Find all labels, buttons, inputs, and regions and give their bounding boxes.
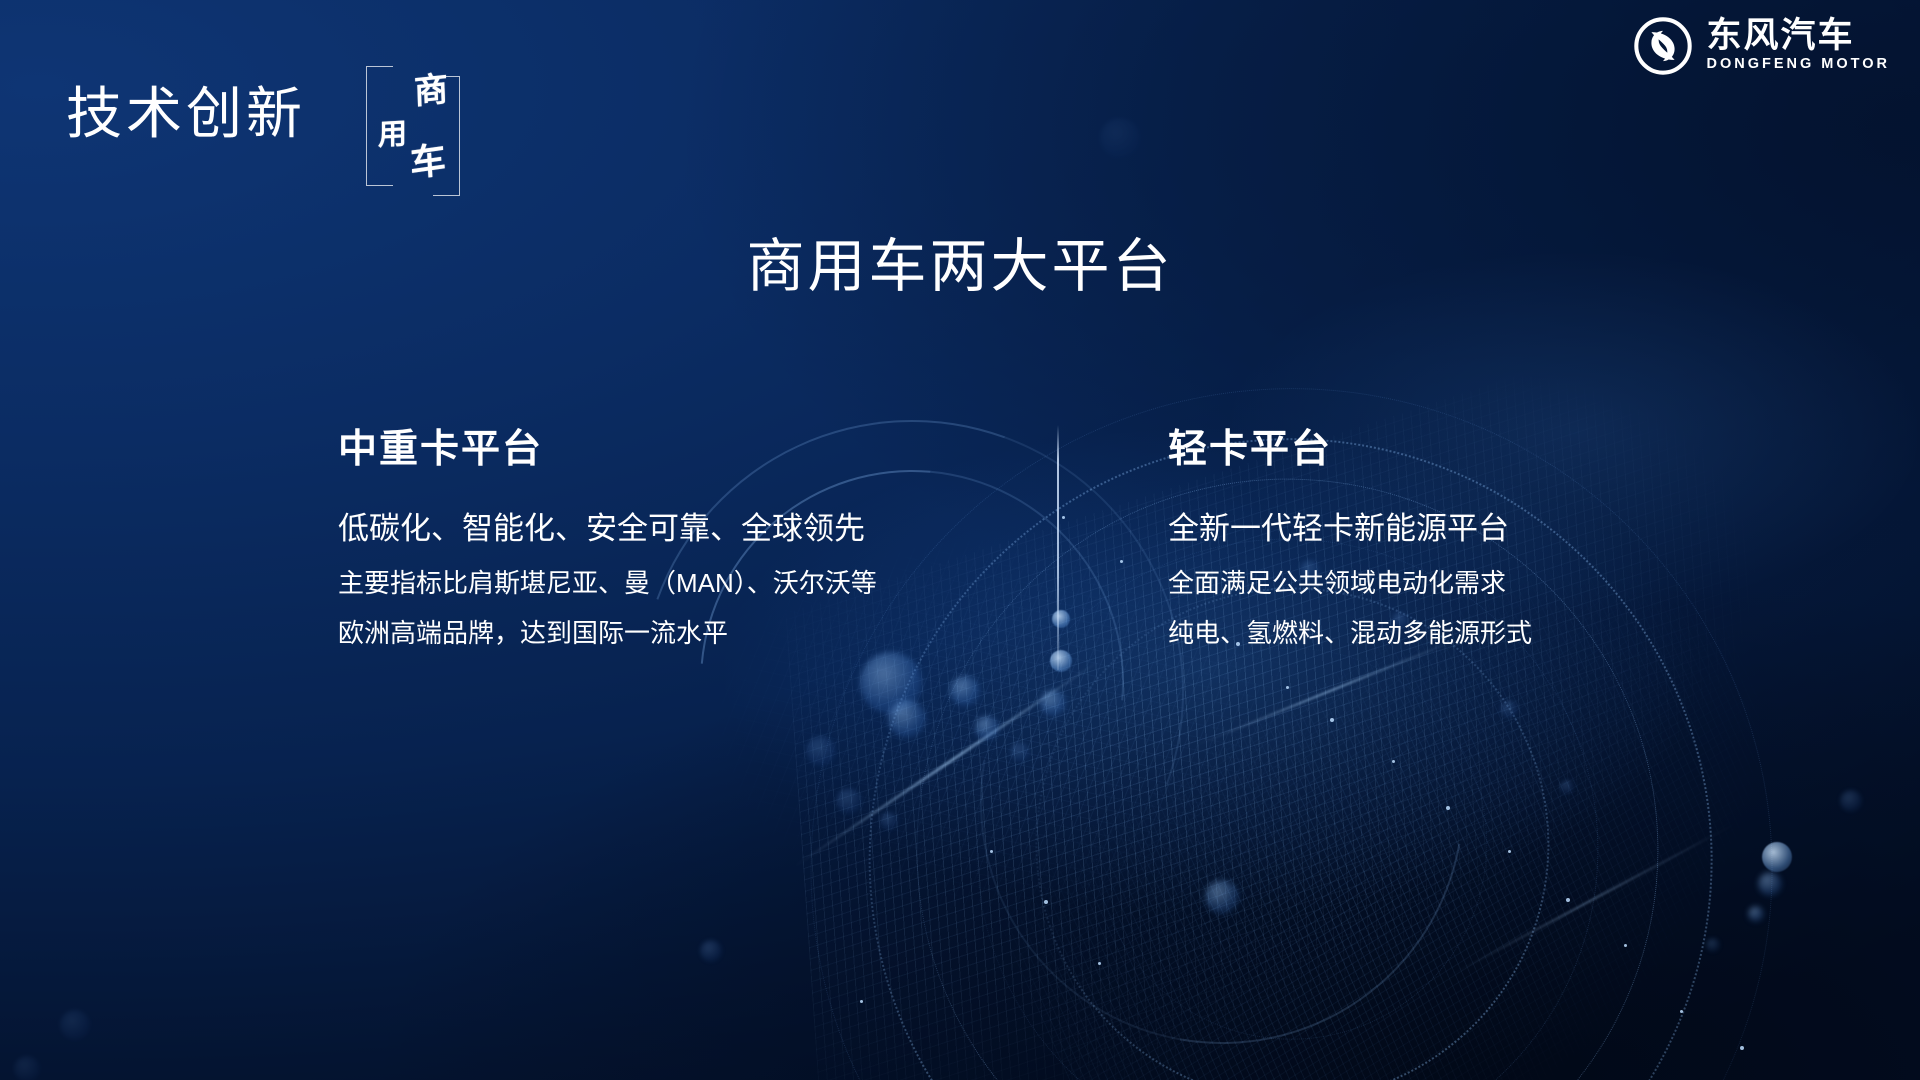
column-heading: 轻卡平台: [1168, 430, 1808, 469]
bokeh-circle: [806, 736, 836, 766]
seal-char-che: 车: [409, 141, 447, 182]
bokeh-circle: [836, 788, 862, 814]
bokeh-circle: [1706, 938, 1720, 952]
bokeh-circle: [1010, 742, 1030, 762]
bokeh-circle: [1748, 906, 1764, 922]
bokeh-circle: [1050, 650, 1072, 672]
bokeh-circle: [1840, 790, 1862, 812]
main-title: 商用车两大平台: [0, 238, 1920, 296]
column-heading: 中重卡平台: [338, 430, 998, 469]
bokeh-circle: [1052, 610, 1070, 628]
bokeh-circle: [1040, 690, 1066, 716]
column-detail-line: 欧洲高端品牌，达到国际一流水平: [338, 620, 998, 646]
brand-name-en: DONGFENG MOTOR: [1706, 56, 1890, 73]
column-lead-line: 全新一代轻卡新能源平台: [1168, 513, 1808, 544]
particle-dot: [1680, 1010, 1683, 1013]
seal-char-yong: 用: [378, 119, 407, 150]
particle-dot: [1044, 900, 1048, 904]
particle-dot: [860, 1000, 863, 1003]
column-divider: [1057, 425, 1059, 670]
particle-dot: [1740, 1046, 1744, 1050]
seal-characters: 商 用 车: [378, 72, 450, 192]
particle-dot: [1330, 718, 1334, 722]
particle-dot: [1098, 962, 1101, 965]
brand-name-cn: 东风汽车: [1706, 18, 1890, 54]
bokeh-circle: [1762, 842, 1792, 872]
slide-canvas: 技术创新 商 用 车 东风汽车 DONGFENG MOTOR 商用车两大平台 中…: [0, 0, 1920, 1080]
platform-column-light-truck: 轻卡平台 全新一代轻卡新能源平台 全面满足公共领域电动化需求 纯电、氢燃料、混动…: [1168, 430, 1808, 646]
bokeh-circle: [888, 700, 926, 738]
particle-dot: [1508, 850, 1511, 853]
column-lead-line: 低碳化、智能化、安全可靠、全球领先: [338, 513, 998, 544]
particle-dot: [1446, 806, 1450, 810]
particle-dot: [1286, 686, 1289, 689]
particle-dot: [1062, 516, 1065, 519]
commercial-vehicle-seal: 商 用 车: [366, 66, 460, 196]
seal-char-shang: 商: [413, 72, 448, 110]
bokeh-circle: [1560, 780, 1574, 794]
dongfeng-twin-swallow-emblem: [1634, 17, 1692, 75]
bokeh-circle: [1500, 700, 1518, 718]
bokeh-circle: [60, 1010, 90, 1040]
column-detail-line: 纯电、氢燃料、混动多能源形式: [1168, 620, 1808, 646]
bokeh-circle: [950, 676, 980, 706]
bokeh-circle: [975, 716, 999, 740]
bokeh-circle: [14, 1056, 40, 1080]
platform-column-medium-heavy-truck: 中重卡平台 低碳化、智能化、安全可靠、全球领先 主要指标比肩斯堪尼亚、曼（MAN…: [338, 430, 998, 646]
bokeh-circle: [700, 940, 722, 962]
column-detail-line: 主要指标比肩斯堪尼亚、曼（MAN）、沃尔沃等: [338, 570, 998, 596]
particle-dot: [990, 850, 993, 853]
bokeh-circle: [1758, 872, 1782, 896]
brand-logo: 东风汽车 DONGFENG MOTOR: [1634, 17, 1890, 75]
particle-dot: [1392, 760, 1395, 763]
particle-dot: [1624, 944, 1627, 947]
bokeh-circle: [1100, 118, 1140, 158]
bokeh-circle: [1205, 880, 1239, 914]
particle-dot: [1566, 898, 1570, 902]
brand-logo-text: 东风汽车 DONGFENG MOTOR: [1706, 18, 1890, 73]
page-title: 技术创新: [66, 86, 306, 142]
bokeh-circle: [880, 812, 898, 830]
particle-dot: [1120, 560, 1123, 563]
column-detail-line: 全面满足公共领域电动化需求: [1168, 570, 1808, 596]
